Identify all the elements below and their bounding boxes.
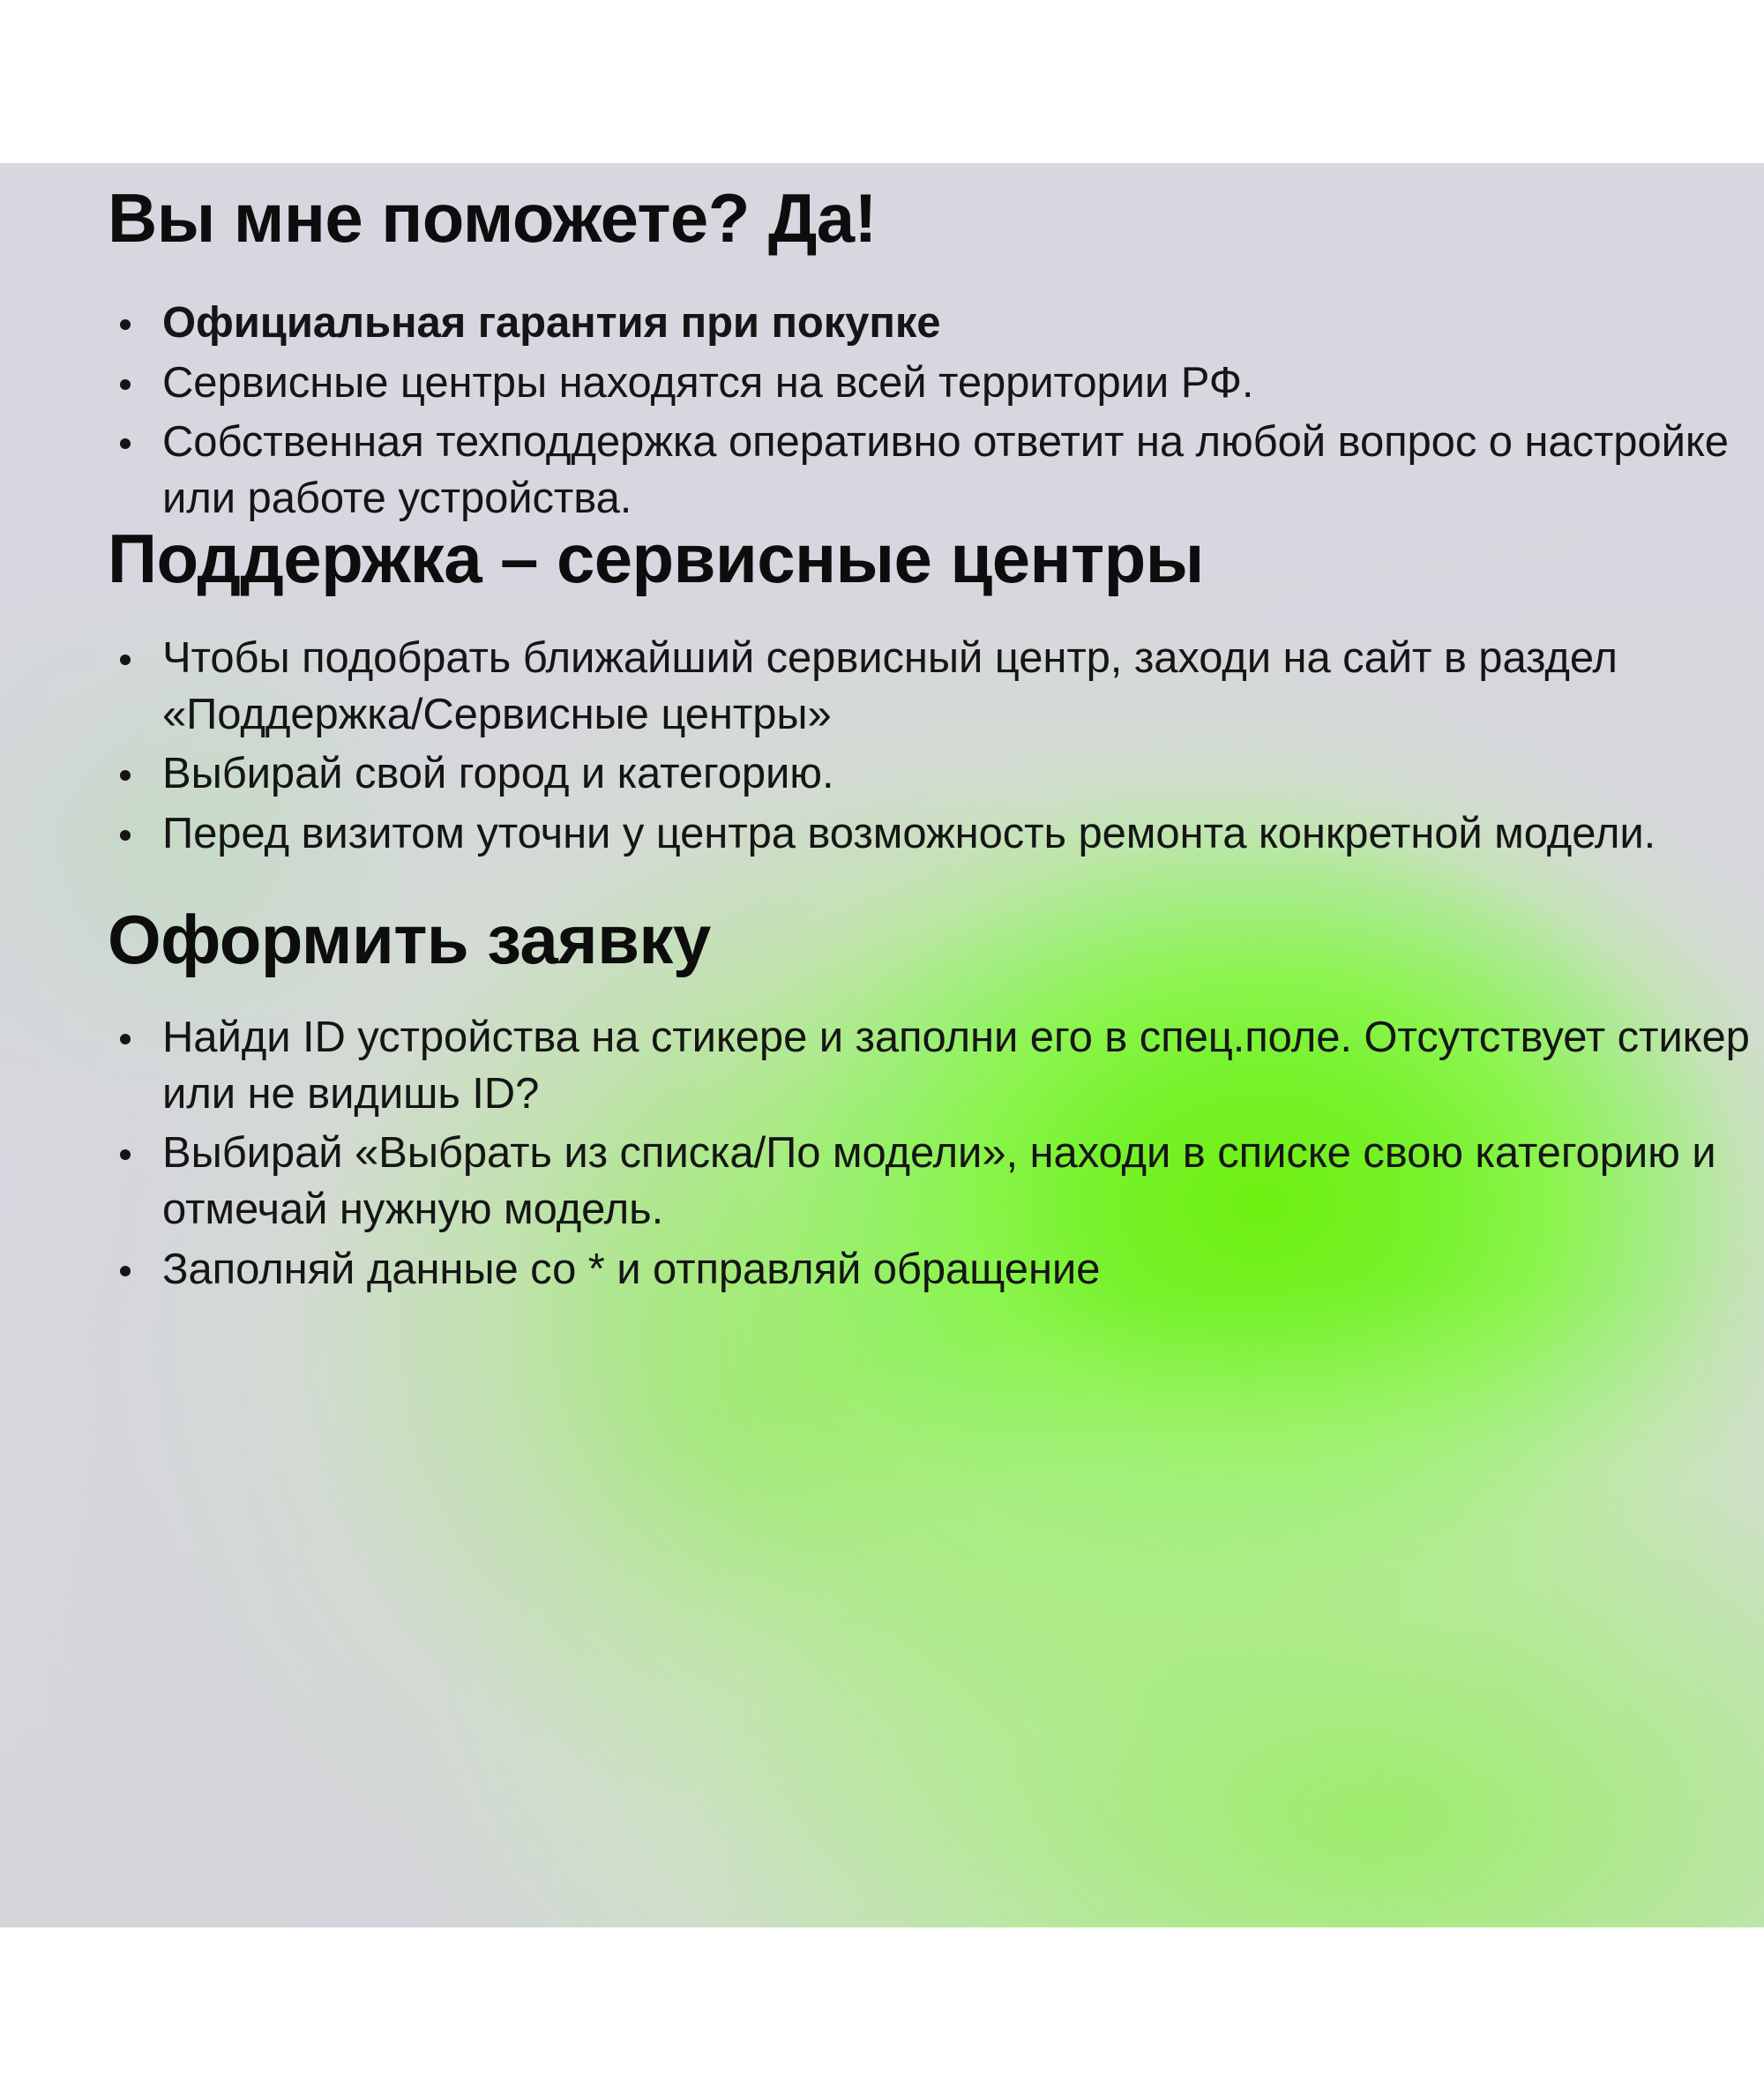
list-item: Выбирай «Выбрать из списка/По модели», н…: [108, 1126, 1764, 1238]
list-item-text: Сервисные центры находятся на всей терри…: [162, 359, 1253, 407]
list-item: Собственная техподдержка оперативно отве…: [108, 415, 1764, 527]
list-item: Выбирай свой город и категорию.: [108, 746, 1764, 803]
list-item: Сервисные центры находятся на всей терри…: [108, 355, 1764, 412]
list-item: Официальная гарантия при покупке: [108, 296, 1764, 352]
slide: Вы мне поможете? Да! Официальная гаранти…: [0, 163, 1764, 1927]
list-item: Чтобы подобрать ближайший сервисный цент…: [108, 631, 1764, 743]
list-item: Найди ID устройства на стикере и заполни…: [108, 1010, 1764, 1122]
list-item: Перед визитом уточни у центра возможност…: [108, 806, 1764, 863]
bullet-list-submit-request: Найди ID устройства на стикере и заполни…: [108, 1010, 1764, 1301]
list-item-text: Официальная гарантия при покупке: [162, 299, 940, 347]
section-heading-help: Вы мне поможете? Да!: [108, 183, 877, 254]
section-heading-support-centers: Поддержка – сервисные центры: [108, 523, 1204, 595]
bullet-list-help: Официальная гарантия при покупке Сервисн…: [108, 296, 1764, 531]
list-item-text: Найди ID устройства на стикере и заполни…: [162, 1014, 1750, 1118]
list-item-text: Выбирай «Выбрать из списка/По модели», н…: [162, 1129, 1716, 1233]
list-item-text: Заполняй данные со * и отправляй обращен…: [162, 1246, 1100, 1293]
section-heading-submit-request: Оформить заявку: [108, 904, 711, 976]
bullet-list-support-centers: Чтобы подобрать ближайший сервисный цент…: [108, 631, 1764, 866]
list-item-text: Выбирай свой город и категорию.: [162, 750, 833, 797]
page-canvas: Вы мне поможете? Да! Официальная гаранти…: [0, 0, 1764, 2095]
list-item: Заполняй данные со * и отправляй обращен…: [108, 1242, 1764, 1298]
list-item-text: Чтобы подобрать ближайший сервисный цент…: [162, 634, 1618, 738]
list-item-text: Собственная техподдержка оперативно отве…: [162, 418, 1729, 522]
list-item-text: Перед визитом уточни у центра возможност…: [162, 810, 1656, 857]
